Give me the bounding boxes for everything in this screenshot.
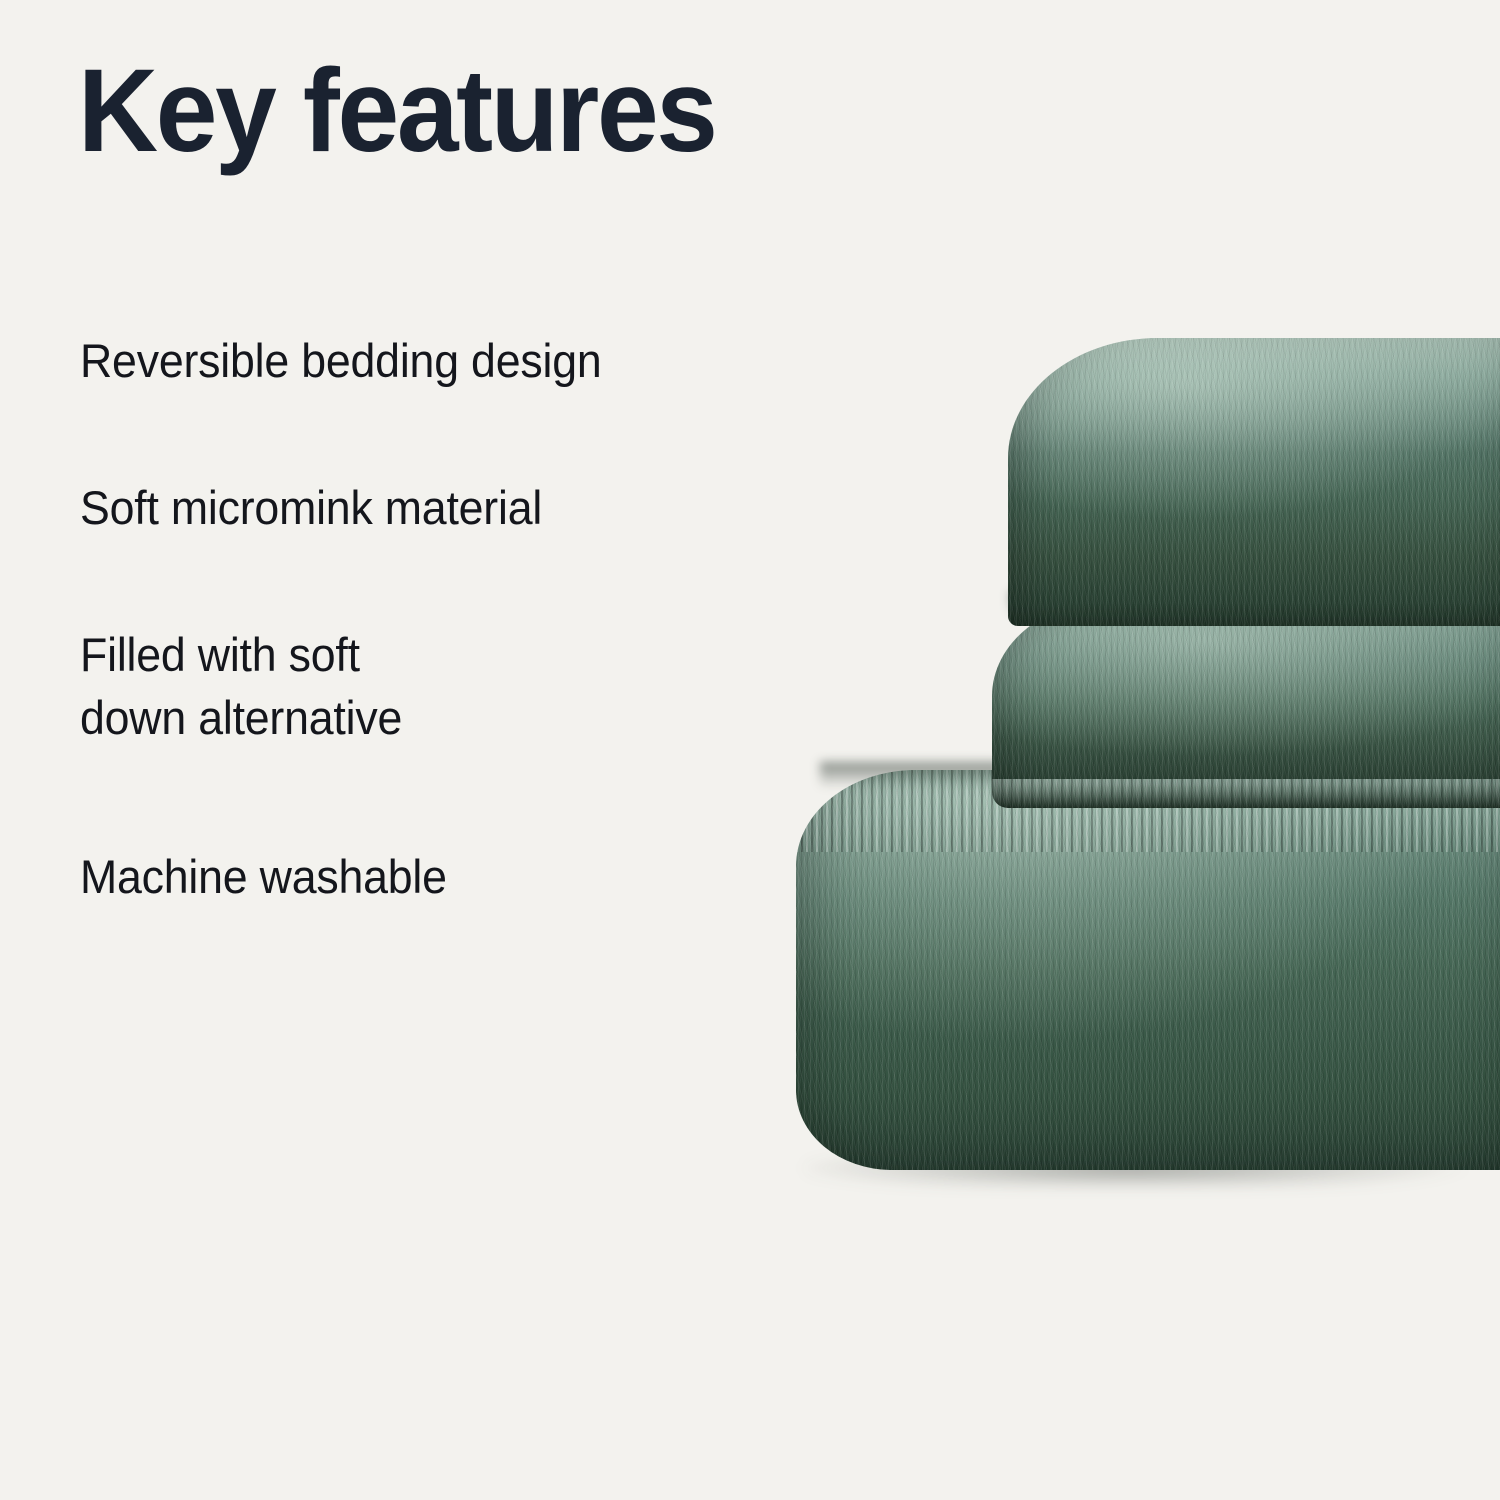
feature-item: Filled with soft down alternative [80, 624, 402, 749]
feature-item: Reversible bedding design [80, 330, 601, 393]
product-image [760, 300, 1500, 1180]
key-features-infographic: Key features Reversible bedding design S… [0, 0, 1500, 1500]
feature-item: Machine washable [80, 846, 447, 909]
top-folded-blanket [1008, 338, 1500, 626]
highlight-edge [1008, 338, 1500, 453]
middle-rolled-blanket [992, 600, 1500, 808]
feature-item: Soft micromink material [80, 477, 542, 540]
bottom-folded-blanket [796, 770, 1500, 1170]
page-title: Key features [78, 52, 716, 170]
